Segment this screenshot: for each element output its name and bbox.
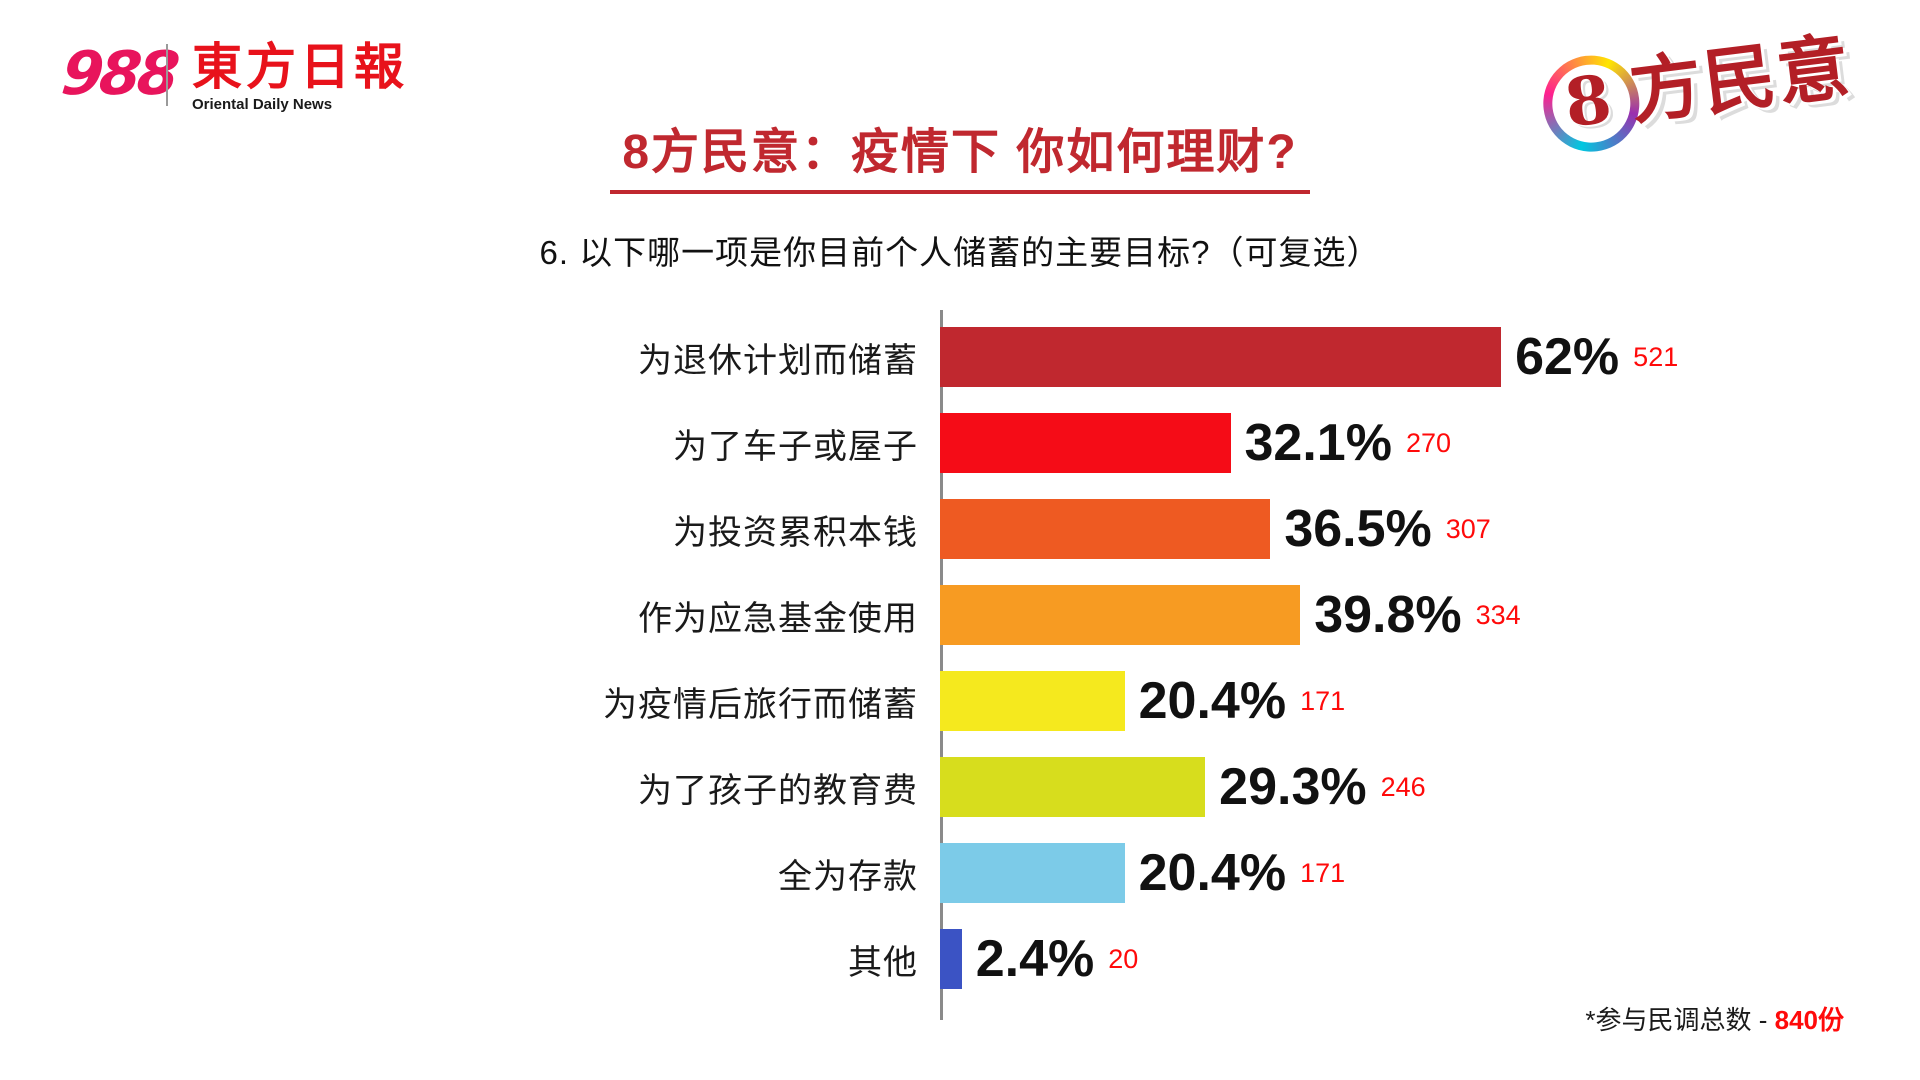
- bar-segment: [940, 585, 1300, 645]
- oriental-daily-logo-cn: 東方日報: [192, 42, 408, 92]
- oriental-daily-logo-en: Oriental Daily News: [192, 96, 332, 113]
- page-title: 8方民意：疫情下 你如何理财?: [0, 112, 1920, 194]
- bar-row: 作为应急基金使用39.8%334: [0, 572, 1920, 658]
- bar-row: 其他2.4%20: [0, 916, 1920, 1002]
- bar-segment: [940, 671, 1125, 731]
- bar-count-label: 171: [1300, 860, 1345, 887]
- bar-row: 为了车子或屋子32.1%270: [0, 400, 1920, 486]
- bar-value-group: 20.4%171: [940, 658, 1345, 744]
- bar-value-group: 2.4%20: [940, 916, 1138, 1002]
- bar-value-group: 32.1%270: [940, 400, 1451, 486]
- total-respondents-note: *参与民调总数 - 840份: [1585, 1000, 1844, 1037]
- bar-percent-label: 39.8%: [1314, 589, 1461, 641]
- bar-value-group: 36.5%307: [940, 486, 1491, 572]
- bar-category-label: 全为存款: [0, 849, 940, 898]
- bar-count-label: 334: [1476, 602, 1521, 629]
- bar-category-label: 为投资累积本钱: [0, 505, 940, 554]
- bar-category-label: 为退休计划而储蓄: [0, 333, 940, 382]
- bar-segment: [940, 327, 1501, 387]
- station-988-logo: 988: [59, 44, 179, 104]
- bar-segment: [940, 499, 1270, 559]
- question-text: 6. 以下哪一项是你目前个人储蓄的主要目标?（可复选）: [0, 226, 1920, 274]
- bar-percent-label: 62%: [1515, 331, 1619, 383]
- bar-value-group: 20.4%171: [940, 830, 1345, 916]
- bar-segment: [940, 929, 962, 989]
- bar-segment: [940, 413, 1231, 473]
- bar-category-label: 为了车子或屋子: [0, 419, 940, 468]
- bar-category-label: 为了孩子的教育费: [0, 763, 940, 812]
- bar-row: 为投资累积本钱36.5%307: [0, 486, 1920, 572]
- bar-category-label: 作为应急基金使用: [0, 591, 940, 640]
- bar-count-label: 307: [1446, 516, 1491, 543]
- bar-value-group: 39.8%334: [940, 572, 1521, 658]
- page-title-text: 8方民意：疫情下 你如何理财?: [610, 112, 1309, 194]
- bar-category-label: 其他: [0, 935, 940, 984]
- bar-count-label: 270: [1406, 430, 1451, 457]
- bar-count-label: 20: [1108, 946, 1138, 973]
- bar-value-group: 29.3%246: [940, 744, 1426, 830]
- bar-chart: 为退休计划而储蓄62%521为了车子或屋子32.1%270为投资累积本钱36.5…: [0, 300, 1920, 1030]
- bar-row: 为疫情后旅行而储蓄20.4%171: [0, 658, 1920, 744]
- total-respondents-label: *参与民调总数 -: [1585, 1005, 1767, 1035]
- total-respondents-value: 840份: [1775, 1005, 1844, 1035]
- bar-count-label: 246: [1381, 774, 1426, 801]
- bar-row: 为退休计划而储蓄62%521: [0, 314, 1920, 400]
- bar-category-label: 为疫情后旅行而储蓄: [0, 677, 940, 726]
- bar-row: 为了孩子的教育费29.3%246: [0, 744, 1920, 830]
- bar-value-group: 62%521: [940, 314, 1678, 400]
- bar-percent-label: 32.1%: [1245, 417, 1392, 469]
- bar-percent-label: 2.4%: [976, 933, 1095, 985]
- bar-count-label: 171: [1300, 688, 1345, 715]
- bar-percent-label: 20.4%: [1139, 847, 1286, 899]
- bar-row: 全为存款20.4%171: [0, 830, 1920, 916]
- logo-divider: [166, 44, 168, 106]
- bar-rows: 为退休计划而储蓄62%521为了车子或屋子32.1%270为投资累积本钱36.5…: [0, 314, 1920, 1002]
- bar-segment: [940, 843, 1125, 903]
- bar-percent-label: 29.3%: [1219, 761, 1366, 813]
- bar-percent-label: 20.4%: [1139, 675, 1286, 727]
- bar-segment: [940, 757, 1205, 817]
- bar-percent-label: 36.5%: [1284, 503, 1431, 555]
- bar-count-label: 521: [1633, 344, 1678, 371]
